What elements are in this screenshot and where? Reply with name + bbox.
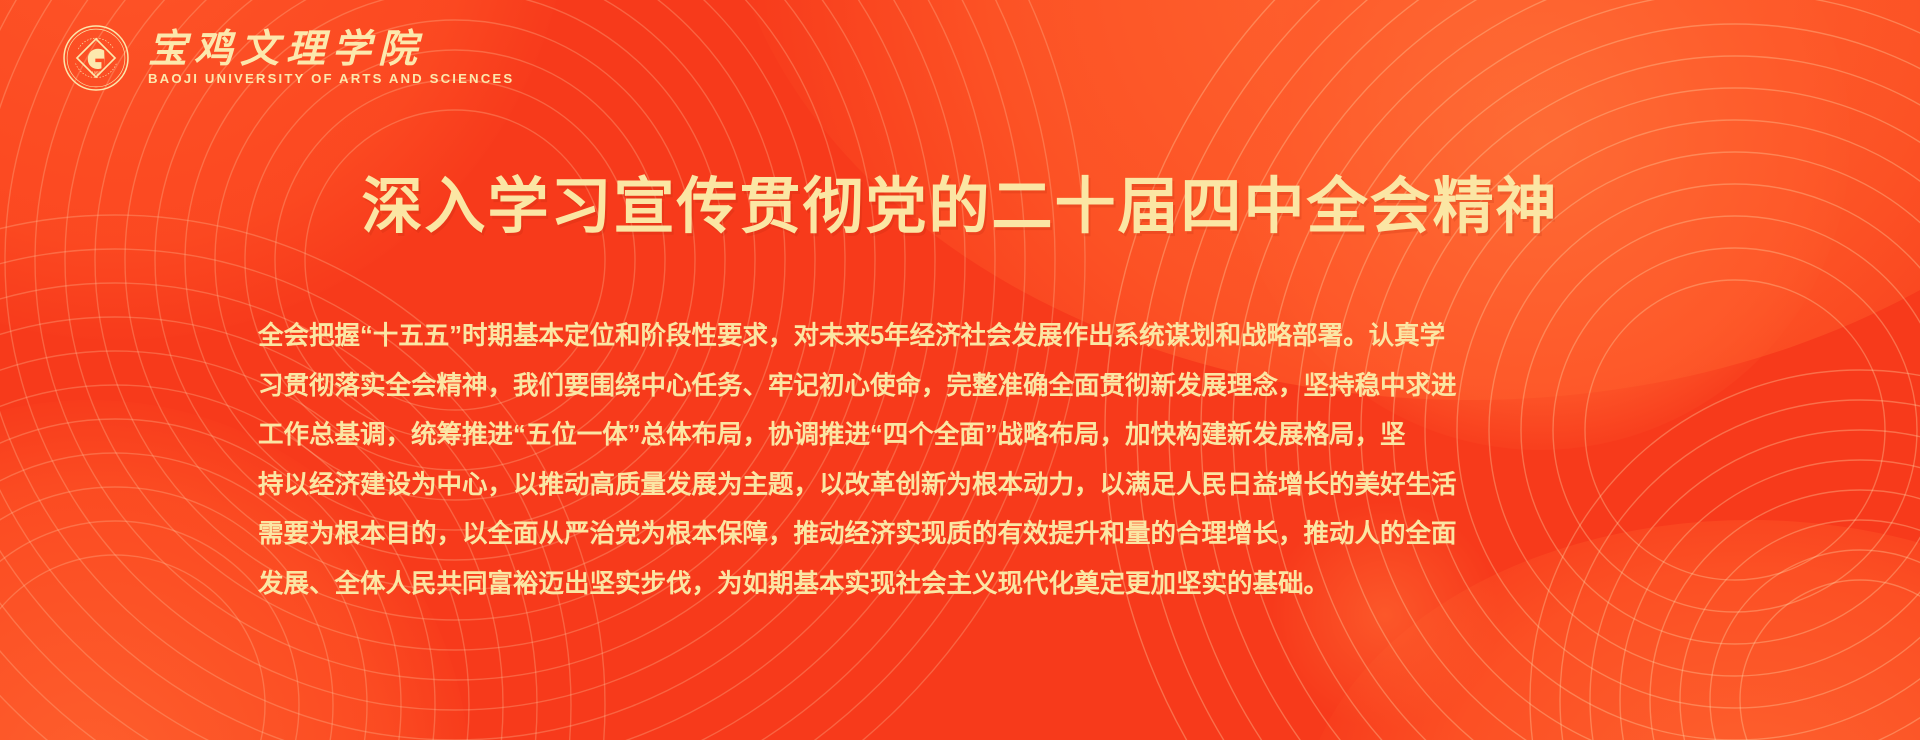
- logo-text-block: 宝鸡文理学院 BAOJI UNIVERSITY OF ARTS AND SCIE…: [148, 30, 514, 85]
- body-line: 全会把握“十五五”时期基本定位和阶段性要求，对未来5年经济社会发展作出系统谋划和…: [258, 312, 1662, 362]
- university-logo: 1958 宝鸡文理学院 BAOJI UNIVERSITY OF ARTS AND…: [62, 24, 514, 92]
- body-line: 习贯彻落实全会精神，我们要围绕中心任务、牢记初心使命，完整准确全面贯彻新发展理念…: [258, 362, 1662, 412]
- body-line: 发展、全体人民共同富裕迈出坚实步伐，为如期基本实现社会主义现代化奠定更加坚实的基…: [258, 560, 1662, 610]
- logo-name-en: BAOJI UNIVERSITY OF ARTS AND SCIENCES: [148, 72, 514, 85]
- svg-text:1958: 1958: [91, 70, 101, 75]
- banner-root: 1958 宝鸡文理学院 BAOJI UNIVERSITY OF ARTS AND…: [0, 0, 1920, 740]
- university-seal-icon: 1958: [62, 24, 130, 92]
- logo-name-cn: 宝鸡文理学院: [148, 30, 514, 69]
- body-line: 持以经济建设为中心，以推动高质量发展为主题，以改革创新为根本动力，以满足人民日益…: [258, 461, 1662, 511]
- page-title: 深入学习宣传贯彻党的二十届四中全会精神: [0, 176, 1920, 237]
- body-line: 需要为根本目的，以全面从严治党为根本保障，推动经济实现质的有效提升和量的合理增长…: [258, 510, 1662, 560]
- body-line: 工作总基调，统筹推进“五位一体”总体布局，协调推进“四个全面”战略布局，加快构建…: [258, 411, 1662, 461]
- body-paragraph: 全会把握“十五五”时期基本定位和阶段性要求，对未来5年经济社会发展作出系统谋划和…: [258, 312, 1662, 609]
